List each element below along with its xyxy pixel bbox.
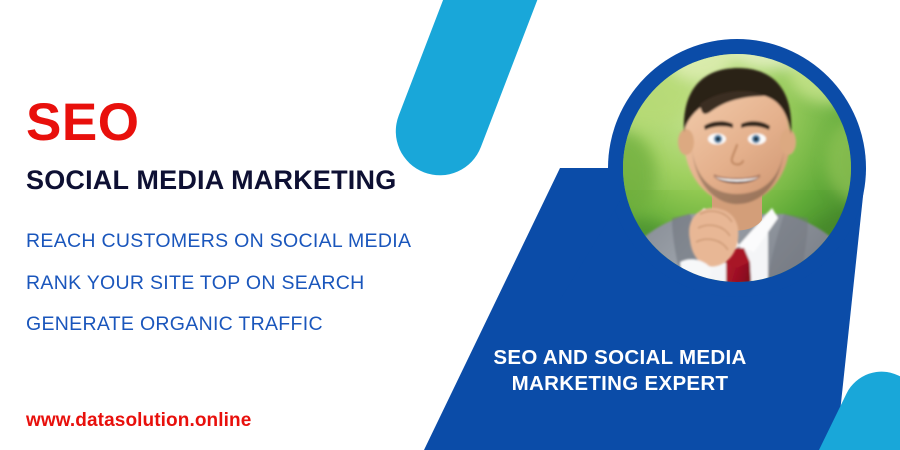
left-text-column: SEO SOCIAL MEDIA MARKETING REACH CUSTOME… (26, 96, 426, 357)
list-item: REACH CUSTOMERS ON SOCIAL MEDIA (26, 232, 426, 252)
website-url[interactable]: www.datasolution.online (26, 410, 251, 432)
list-item: RANK YOUR SITE TOP ON SEARCH (26, 274, 426, 294)
list-item: GENERATE ORGANIC TRAFFIC (26, 315, 426, 335)
expert-caption-line2: MARKETING EXPERT (470, 371, 770, 397)
expert-caption: SEO AND SOCIAL MEDIA MARKETING EXPERT (470, 345, 770, 396)
seo-marketing-banner: SEO SOCIAL MEDIA MARKETING REACH CUSTOME… (0, 0, 900, 450)
headline-seo: SEO (26, 96, 426, 149)
expert-caption-line1: SEO AND SOCIAL MEDIA (493, 346, 746, 369)
benefit-list: REACH CUSTOMERS ON SOCIAL MEDIA RANK YOU… (26, 232, 426, 335)
subheadline: SOCIAL MEDIA MARKETING (26, 167, 426, 194)
